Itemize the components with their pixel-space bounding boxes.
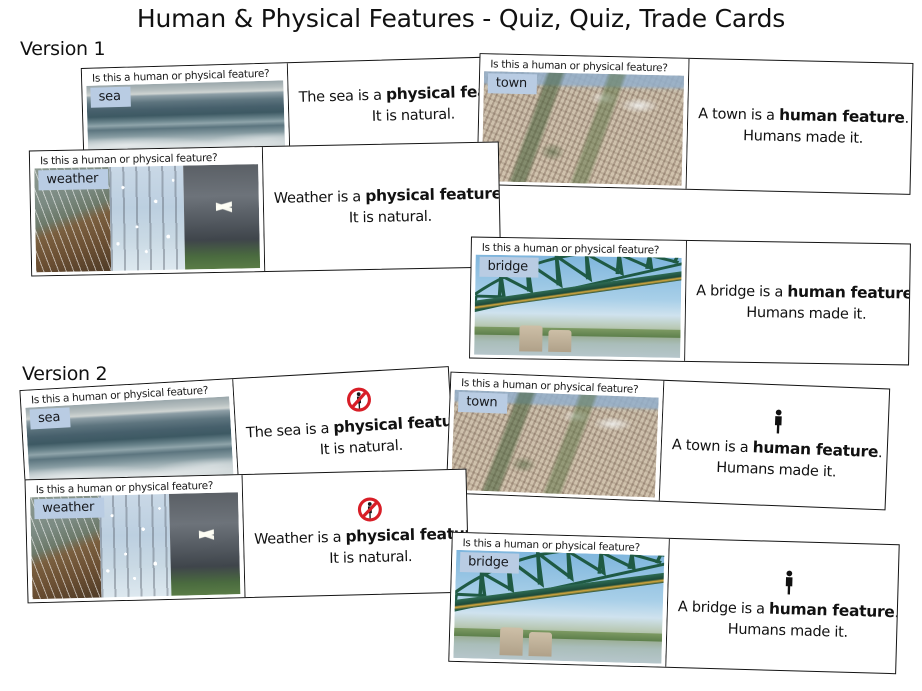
no-human-icon xyxy=(345,386,371,412)
question-panel: Is this a human or physical feature? wea… xyxy=(30,147,264,275)
answer-strong: human feature xyxy=(787,283,911,303)
answer-line-1: A town is a human feature. xyxy=(698,102,909,130)
answer-strong: physical feature xyxy=(365,184,501,205)
word-label: sea xyxy=(30,407,71,429)
answer-prefix: A bridge is a xyxy=(696,283,787,300)
answer-prefix: A town is a xyxy=(698,106,779,124)
question-panel: Is this a human or physical feature? xyxy=(449,533,668,667)
answer-strong: human feature xyxy=(769,600,895,621)
photo-town: town xyxy=(451,390,659,498)
answer-panel: A bridge is a human feature. Humans made… xyxy=(665,539,900,674)
worksheet-page: Human & Physical Features - Quiz, Quiz, … xyxy=(0,0,922,691)
answer-line-2: Humans made it. xyxy=(746,303,866,326)
icon-row xyxy=(678,567,899,598)
answer-prefix: Weather is a xyxy=(274,189,366,207)
bridge-pier xyxy=(548,330,571,352)
card-v1-bridge[interactable]: Is this a human or physical feature? xyxy=(469,237,911,366)
answer-strong: physical feature xyxy=(333,411,455,437)
answer-panel: A town is a human feature. Humans made i… xyxy=(659,381,890,510)
photo-weather: weather xyxy=(34,164,260,272)
answer-line-2: Humans made it. xyxy=(743,126,863,150)
card-v2-weather[interactable]: Is this a human or physical feature? wea… xyxy=(25,469,470,604)
answer-suffix: . xyxy=(904,111,909,127)
card-v2-bridge[interactable]: Is this a human or physical feature? xyxy=(448,532,899,674)
answer-prefix: The sea is a xyxy=(246,421,334,442)
answer-panel: A bridge is a human feature. Humans made… xyxy=(684,241,911,365)
no-human-icon xyxy=(357,497,383,523)
answer-panel: Weather is a physical feature. It is nat… xyxy=(262,142,501,271)
version-2-heading: Version 2 xyxy=(22,363,107,385)
card-v2-town[interactable]: Is this a human or physical feature? tow… xyxy=(446,372,890,511)
card-v1-town[interactable]: Is this a human or physical feature? tow… xyxy=(477,53,914,195)
card-v1-weather[interactable]: Is this a human or physical feature? wea… xyxy=(29,142,501,277)
word-label: weather xyxy=(38,169,108,190)
weather-panel-snow xyxy=(99,494,171,598)
word-label: bridge xyxy=(460,552,519,574)
answer-line-1: Weather is a physical feature. xyxy=(274,182,502,209)
word-label: weather xyxy=(34,497,104,519)
page-title: Human & Physical Features - Quiz, Quiz, … xyxy=(0,4,922,33)
photo-town: town xyxy=(482,71,684,186)
bridge-pier xyxy=(528,632,552,656)
question-panel: Is this a human or physical feature? wea… xyxy=(26,475,245,602)
answer-line-1: Weather is a physical feature. xyxy=(254,522,470,551)
answer-line-1: A bridge is a human feature. xyxy=(678,595,900,624)
answer-line-1: A bridge is a human feature. xyxy=(696,279,911,305)
answer-panel: A town is a human feature. Humans made i… xyxy=(686,59,914,194)
question-panel: Is this a human or physical feature? tow… xyxy=(478,54,689,189)
answer-prefix: A bridge is a xyxy=(678,599,770,618)
answer-panel: The sea is a physical feature. It is nat… xyxy=(232,366,454,481)
word-label: town xyxy=(458,392,508,414)
answer-prefix: A town is a xyxy=(672,437,753,456)
question-panel: Is this a human or physical feature? sea xyxy=(82,63,289,159)
icon-row xyxy=(253,494,469,525)
answer-strong: human feature xyxy=(752,438,878,461)
answer-line-2: It is natural. xyxy=(349,207,432,230)
photo-weather: weather xyxy=(30,492,240,599)
question-panel: Is this a human or physical feature? tow… xyxy=(447,373,663,501)
word-label: bridge xyxy=(479,257,538,278)
bridge-pier xyxy=(499,627,523,656)
answer-suffix: . xyxy=(878,445,883,461)
human-icon xyxy=(770,409,786,435)
answer-line-2: It is natural. xyxy=(372,105,456,128)
word-label: sea xyxy=(90,87,131,108)
answer-strong: human feature xyxy=(779,106,905,127)
answer-line-2: Humans made it. xyxy=(716,458,837,484)
weather-panel-lightning xyxy=(169,492,241,596)
answer-panel: Weather is a physical feature. It is nat… xyxy=(242,469,470,597)
answer-prefix: Weather is a xyxy=(254,530,346,548)
human-icon xyxy=(781,570,797,595)
bridge-pier xyxy=(520,325,543,351)
photo-sea: sea xyxy=(86,80,285,155)
answer-line-2: It is natural. xyxy=(319,436,403,462)
version-1-heading: Version 1 xyxy=(20,38,105,60)
photo-bridge: bridge xyxy=(453,550,664,664)
answer-suffix: . xyxy=(894,605,899,621)
weather-panel-lightning xyxy=(183,164,260,269)
icon-row xyxy=(672,405,883,438)
answer-line-2: It is natural. xyxy=(329,547,412,570)
word-label: town xyxy=(488,73,538,94)
answer-prefix: The sea is a xyxy=(298,87,386,105)
weather-panel-snow xyxy=(109,166,186,271)
answer-line-2: Humans made it. xyxy=(727,620,848,644)
photo-bridge: bridge xyxy=(474,255,682,358)
question-panel: Is this a human or physical feature? xyxy=(470,238,686,361)
